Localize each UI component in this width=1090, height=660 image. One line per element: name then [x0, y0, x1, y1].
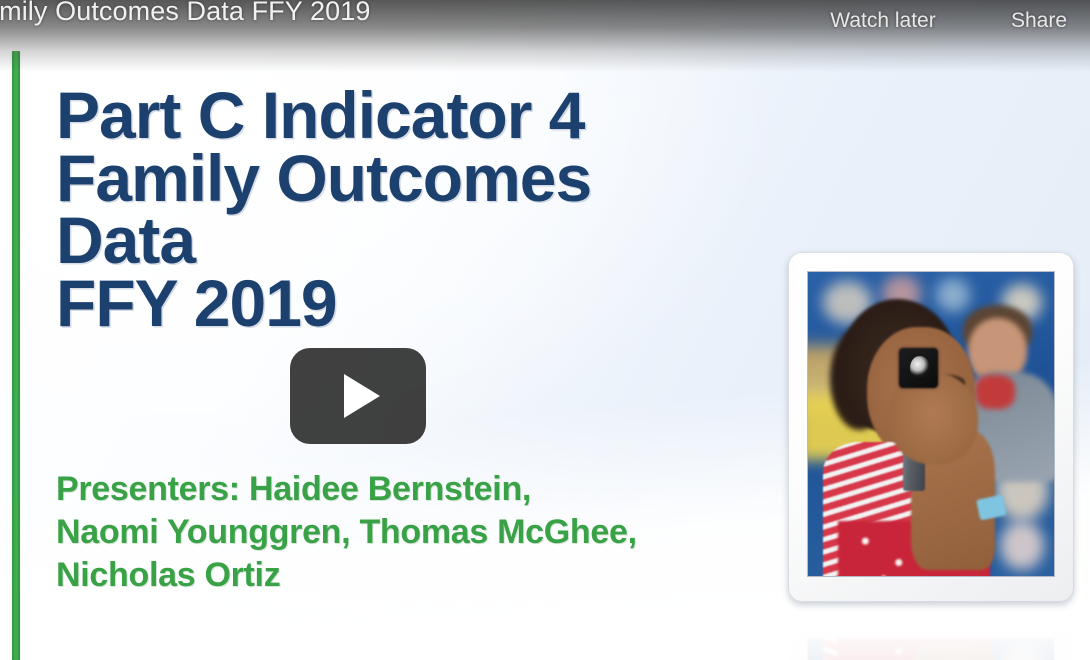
- player-top-actions: Watch later Share: [828, 0, 1090, 33]
- photo-background-blob: [936, 278, 970, 311]
- photo-kaleidoscope-lens: [910, 356, 930, 380]
- photo-adult-shirt-accent: [975, 375, 1014, 408]
- play-triangle-icon: [344, 374, 380, 418]
- presenter-line-3: Nicholas Ortiz: [56, 554, 786, 597]
- video-title[interactable]: amily Outcomes Data FFY 2019: [0, 0, 370, 27]
- share-label: Share: [1011, 9, 1067, 33]
- play-video-button[interactable]: [290, 348, 426, 444]
- slide-title-line-1: Part C Indicator 4: [56, 84, 756, 147]
- share-button[interactable]: Share: [984, 0, 1090, 33]
- green-accent-bar: [12, 51, 20, 660]
- presenter-line-1: Presenters: Haidee Bernstein,: [56, 468, 786, 511]
- photo-frame-reflection: [788, 612, 1074, 660]
- slide-title: Part C Indicator 4 Family Outcomes Data …: [56, 84, 756, 335]
- slide-title-line-2: Family Outcomes: [56, 147, 756, 210]
- photo-background-blob: [1000, 521, 1044, 570]
- slide-photo: [808, 272, 1054, 576]
- slide-presenters: Presenters: Haidee Bernstein, Naomi Youn…: [56, 468, 786, 598]
- watch-later-label: Watch later: [830, 9, 935, 33]
- photo-frame: [788, 252, 1074, 602]
- slide-title-line-4: FFY 2019: [56, 272, 756, 335]
- player-top-bar: amily Outcomes Data FFY 2019 Watch later: [0, 0, 1090, 72]
- slide-title-line-3: Data: [56, 209, 756, 272]
- video-slide: Part C Indicator 4 Family Outcomes Data …: [0, 0, 1090, 660]
- video-player[interactable]: Part C Indicator 4 Family Outcomes Data …: [0, 0, 1090, 660]
- presenter-line-2: Naomi Younggren, Thomas McGhee,: [56, 511, 786, 554]
- watch-later-button[interactable]: Watch later: [828, 0, 938, 33]
